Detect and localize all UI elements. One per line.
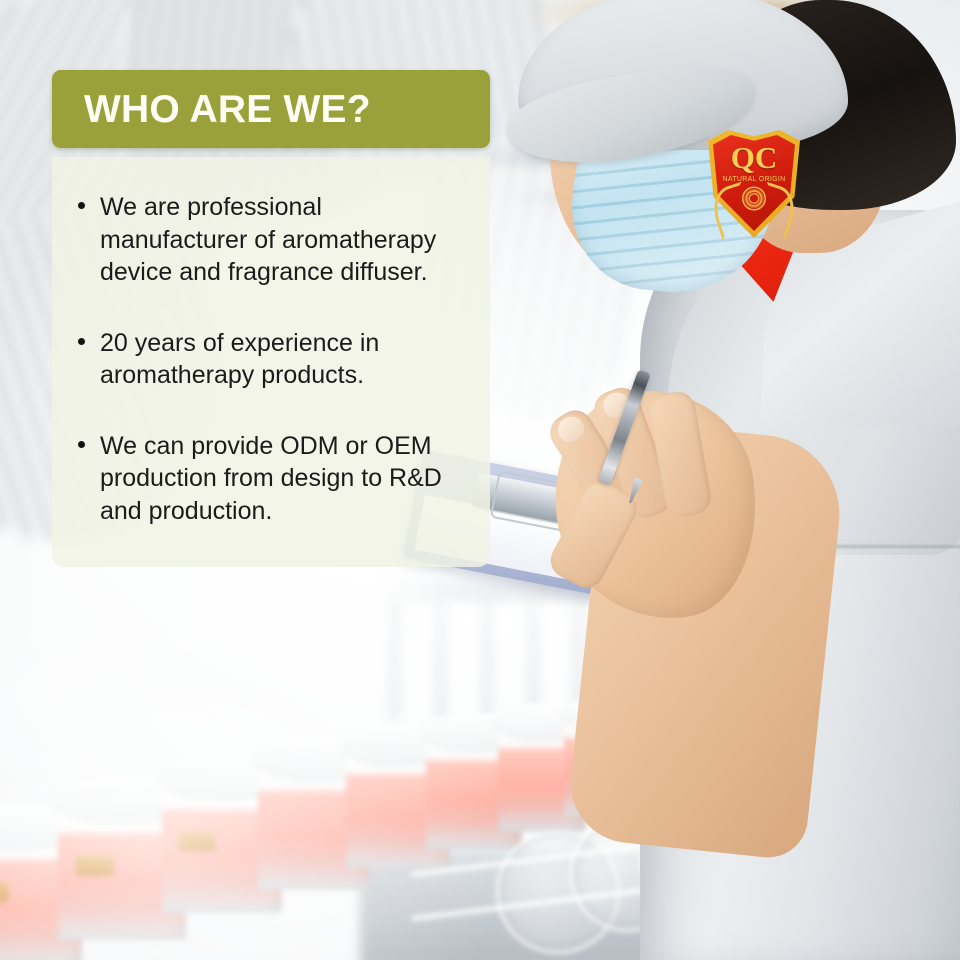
who-are-we-card: WHO ARE WE? We are professional manufact… xyxy=(52,70,490,567)
bullet-list: We are professional manufacturer of arom… xyxy=(74,191,464,527)
list-item-text: We are professional manufacturer of arom… xyxy=(100,193,436,286)
list-item: We are professional manufacturer of arom… xyxy=(74,191,464,289)
card-header: WHO ARE WE? xyxy=(52,70,490,148)
page-title: WHO ARE WE? xyxy=(84,90,371,129)
factory-worker: QC NATURAL ORIGIN xyxy=(490,0,960,960)
list-item: We can provide ODM or OEM production fro… xyxy=(74,430,464,528)
list-item-text: 20 years of experience in aromatherapy p… xyxy=(100,329,379,390)
slide-canvas: QC NATURAL ORIGIN WHO ARE WE? xyxy=(0,0,960,960)
bullet-dot-icon xyxy=(78,202,85,209)
bullet-dot-icon xyxy=(78,338,85,345)
badge-subtitle: NATURAL ORIGIN xyxy=(708,176,800,183)
qc-badge: QC NATURAL ORIGIN xyxy=(708,130,800,238)
badge-title: QC xyxy=(708,142,800,173)
list-item-text: We can provide ODM or OEM production fro… xyxy=(100,432,442,525)
bullet-dot-icon xyxy=(78,441,85,448)
list-item: 20 years of experience in aromatherapy p… xyxy=(74,327,464,392)
card-body: We are professional manufacturer of arom… xyxy=(52,157,490,567)
